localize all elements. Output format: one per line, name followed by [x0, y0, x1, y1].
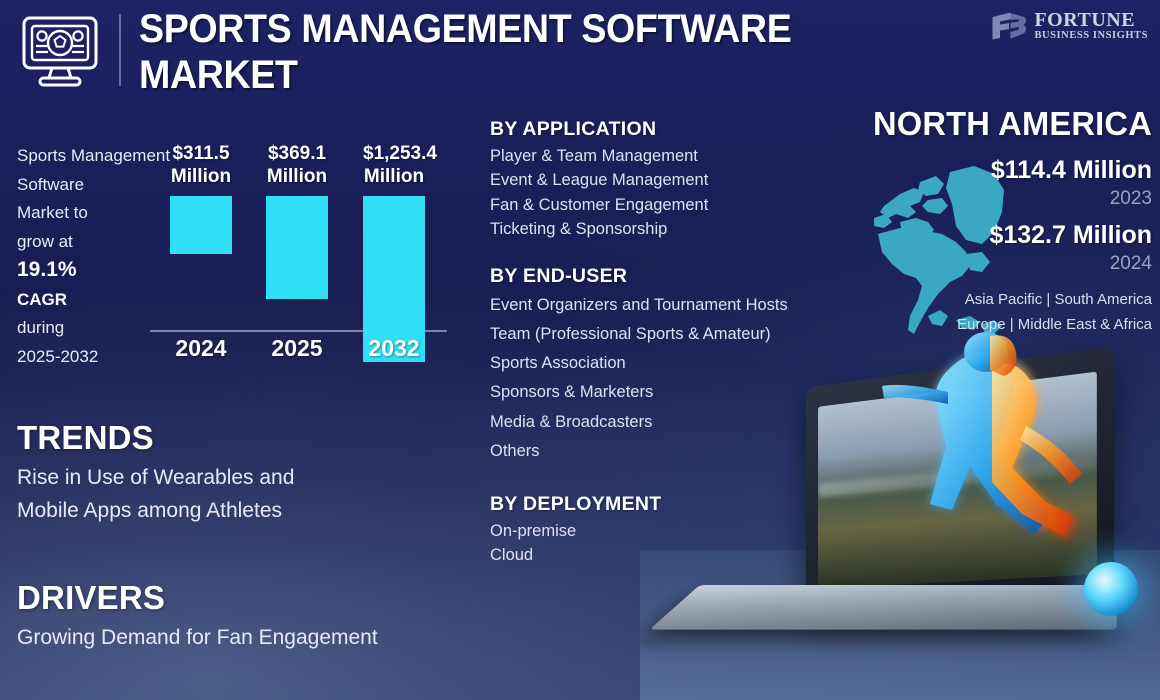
region-value-1: $132.7 Million	[840, 220, 1152, 250]
trends-body: Rise in Use of Wearables and Mobile Apps…	[17, 461, 477, 527]
market-size-bar-chart: $311.5 Million 2024 $369.1 Million 2025 …	[148, 112, 458, 362]
cagr-line-5: during	[17, 318, 64, 337]
bar-amount-0: $311.5	[172, 143, 229, 164]
cagr-period: 2025-2032	[17, 347, 98, 366]
segment-item: Player & Team Management	[490, 144, 820, 168]
drivers-heading: DRIVERS	[17, 578, 487, 618]
header-divider	[119, 14, 121, 86]
segment-item: Event & League Management	[490, 168, 820, 192]
trends-section: TRENDS Rise in Use of Wearables and Mobi…	[17, 418, 477, 527]
bar-unit-0: Million	[171, 166, 231, 187]
bar-year-1: 2025	[266, 334, 328, 362]
segment-by-application: BY APPLICATION Player & Team Management …	[490, 118, 820, 241]
cagr-value: 19.1%	[17, 258, 77, 281]
laptop-soccer-player-artwork	[640, 330, 1160, 700]
region-value-block-1: $132.7 Million 2024	[840, 220, 1152, 276]
bar-year-0: 2024	[170, 334, 232, 362]
page-title: Sports Management Software Market	[139, 6, 872, 98]
logo-subtitle: BUSINESS INSIGHTS	[1034, 31, 1148, 42]
cagr-metric: CAGR	[17, 290, 67, 309]
infographic-canvas: Sports Management Software Market FORTUN…	[0, 0, 1160, 700]
bar-amount-1: $369.1	[268, 143, 326, 164]
header-bar: Sports Management Software Market FORTUN…	[0, 0, 1160, 103]
laptop-lid	[806, 346, 1114, 605]
bar-amount-2: $1,253.4	[363, 143, 437, 164]
region-panel: NORTH AMERICA $114.4 Million 2023 $132.7	[840, 104, 1152, 144]
bar-value-label-2: $1,253.4 Million	[363, 142, 425, 188]
laptop-screen	[818, 372, 1097, 589]
bar-value-label-0: $311.5 Million	[170, 142, 232, 188]
drivers-body: Growing Demand for Fan Engagement	[17, 621, 487, 654]
cagr-line-2: Software	[17, 175, 84, 194]
segment-item: Ticketing & Sponsorship	[490, 217, 820, 241]
trends-line-1: Rise in Use of Wearables and	[17, 466, 294, 489]
bar-value-label-1: $369.1 Million	[266, 142, 328, 188]
segment-item: Fan & Customer Engagement	[490, 193, 820, 217]
other-regions-line-1: Asia Pacific | South America	[840, 287, 1152, 312]
segment-heading-application: BY APPLICATION	[490, 118, 820, 141]
trends-line-2: Mobile Apps among Athletes	[17, 499, 282, 522]
bar-rect-0	[170, 196, 232, 254]
drivers-section: DRIVERS Growing Demand for Fan Engagemen…	[17, 578, 487, 654]
cagr-line-4: grow at	[17, 232, 73, 251]
fb-logo-mark	[991, 11, 1027, 41]
bar-year-2: 2032	[363, 334, 425, 362]
brand-logo: FORTUNE BUSINESS INSIGHTS	[991, 10, 1148, 42]
region-year-0: 2023	[840, 186, 1152, 211]
glowing-soccer-ball	[1084, 562, 1138, 616]
bar-column-1: $369.1 Million	[266, 142, 328, 362]
cagr-line-3: Market to	[17, 203, 88, 222]
segment-item: Event Organizers and Tournament Hosts	[490, 291, 820, 320]
region-value-0: $114.4 Million	[840, 155, 1152, 185]
trends-heading: TRENDS	[17, 418, 477, 458]
region-year-1: 2024	[840, 251, 1152, 276]
logo-text: FORTUNE BUSINESS INSIGHTS	[1034, 10, 1148, 42]
bar-rect-1	[266, 196, 328, 299]
laptop-keyboard-base	[649, 585, 1117, 630]
bar-unit-1: Million	[267, 166, 327, 187]
bar-column-0: $311.5 Million	[170, 142, 232, 362]
region-title: NORTH AMERICA	[843, 104, 1152, 144]
bar-unit-2: Million	[364, 166, 424, 187]
segment-heading-end-user: BY END-USER	[490, 265, 820, 288]
logo-name: FORTUNE	[1034, 10, 1148, 30]
sports-monitor-icon	[18, 14, 102, 93]
bar-column-2: $1,253.4 Million	[363, 142, 425, 362]
region-value-block-0: $114.4 Million 2023	[840, 155, 1152, 211]
